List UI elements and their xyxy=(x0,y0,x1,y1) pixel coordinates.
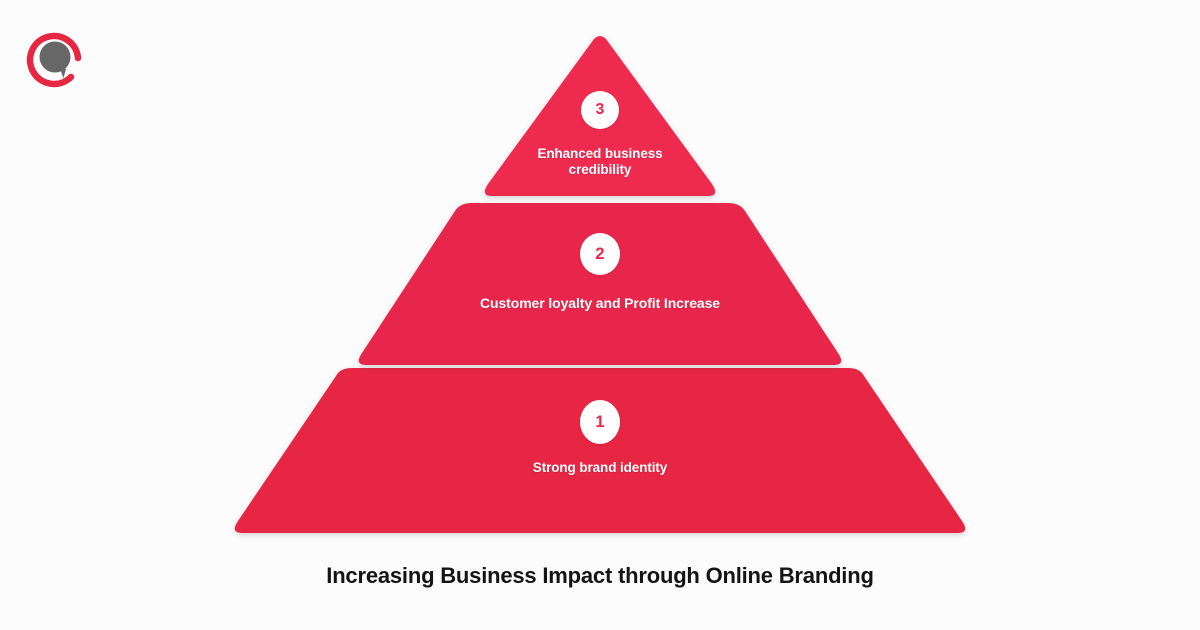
pyramid-tier-1-label: Strong brand identity xyxy=(380,460,820,476)
pyramid-tier-1-badge: 1 xyxy=(580,400,620,444)
pyramid-tier-3-badge: 3 xyxy=(581,91,619,129)
pyramid-tier-1[interactable] xyxy=(235,368,965,533)
pyramid-tier-2[interactable] xyxy=(359,203,841,365)
diagram-caption: Increasing Business Impact through Onlin… xyxy=(0,563,1200,589)
pyramid-tier-1-number: 1 xyxy=(595,413,604,432)
pyramid-tier-2-number: 2 xyxy=(595,245,604,264)
pyramid-tier-2-shape[interactable] xyxy=(359,203,841,365)
pyramid-tier-2-badge: 2 xyxy=(580,233,620,275)
pyramid-tier-3-number: 3 xyxy=(596,101,605,119)
pyramid-tier-2-label: Customer loyalty and Profit Increase xyxy=(380,295,820,312)
diagram-canvas: 3 2 1 Enhanced business credibility Cust… xyxy=(0,0,1200,630)
pyramid-tier-3-label: Enhanced business credibility xyxy=(440,146,760,178)
pyramid-tier-1-shape[interactable] xyxy=(235,368,965,533)
